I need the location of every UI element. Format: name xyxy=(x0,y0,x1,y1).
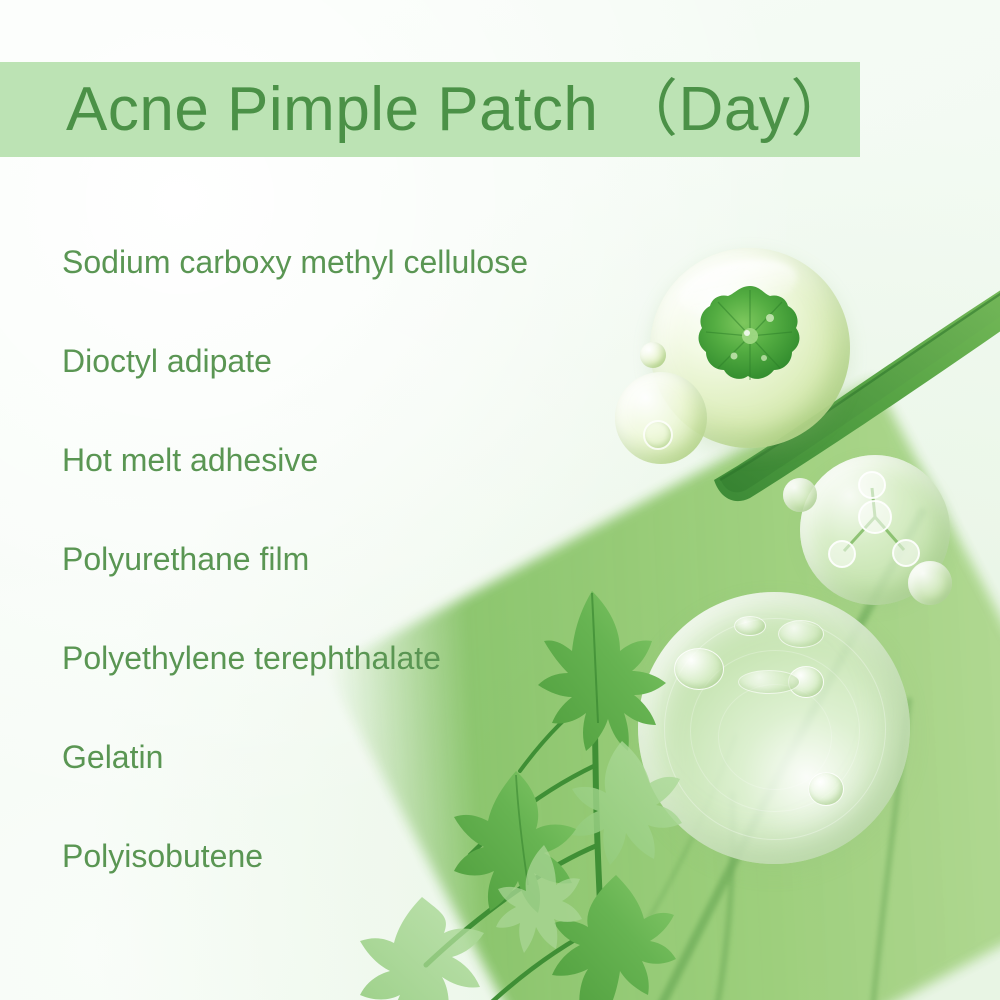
ingredient-label: Polyurethane film xyxy=(62,543,309,575)
page-title: Acne Pimple Patch （Day） xyxy=(66,62,866,157)
list-item: Hot melt adhesive xyxy=(62,410,682,509)
list-item: Polyethylene terephthalate xyxy=(62,608,682,707)
list-item: Polyisobutene xyxy=(62,806,682,905)
ingredient-label: Polyisobutene xyxy=(62,840,263,872)
gel-bubble-satellite-top xyxy=(783,478,817,512)
ingredient-label: Polyethylene terephthalate xyxy=(62,642,441,674)
list-item: Gelatin xyxy=(62,707,682,806)
ingredient-label: Dioctyl adipate xyxy=(62,345,272,377)
list-item: Dioctyl adipate xyxy=(62,311,682,410)
gel-bubble-satellite-bottom xyxy=(908,561,952,605)
centella-leaf-icon xyxy=(694,282,806,394)
list-item: Sodium carboxy methyl cellulose xyxy=(62,212,682,311)
product-ingredient-poster: Acne Pimple Patch （Day） Sodium carboxy m… xyxy=(0,0,1000,1000)
ingredient-label: Sodium carboxy methyl cellulose xyxy=(62,246,528,278)
ingredient-label: Gelatin xyxy=(62,741,163,773)
list-item: Polyurethane film xyxy=(62,509,682,608)
ingredient-label: Hot melt adhesive xyxy=(62,444,318,476)
ingredient-list: Sodium carboxy methyl cellulose Dioctyl … xyxy=(62,212,682,905)
